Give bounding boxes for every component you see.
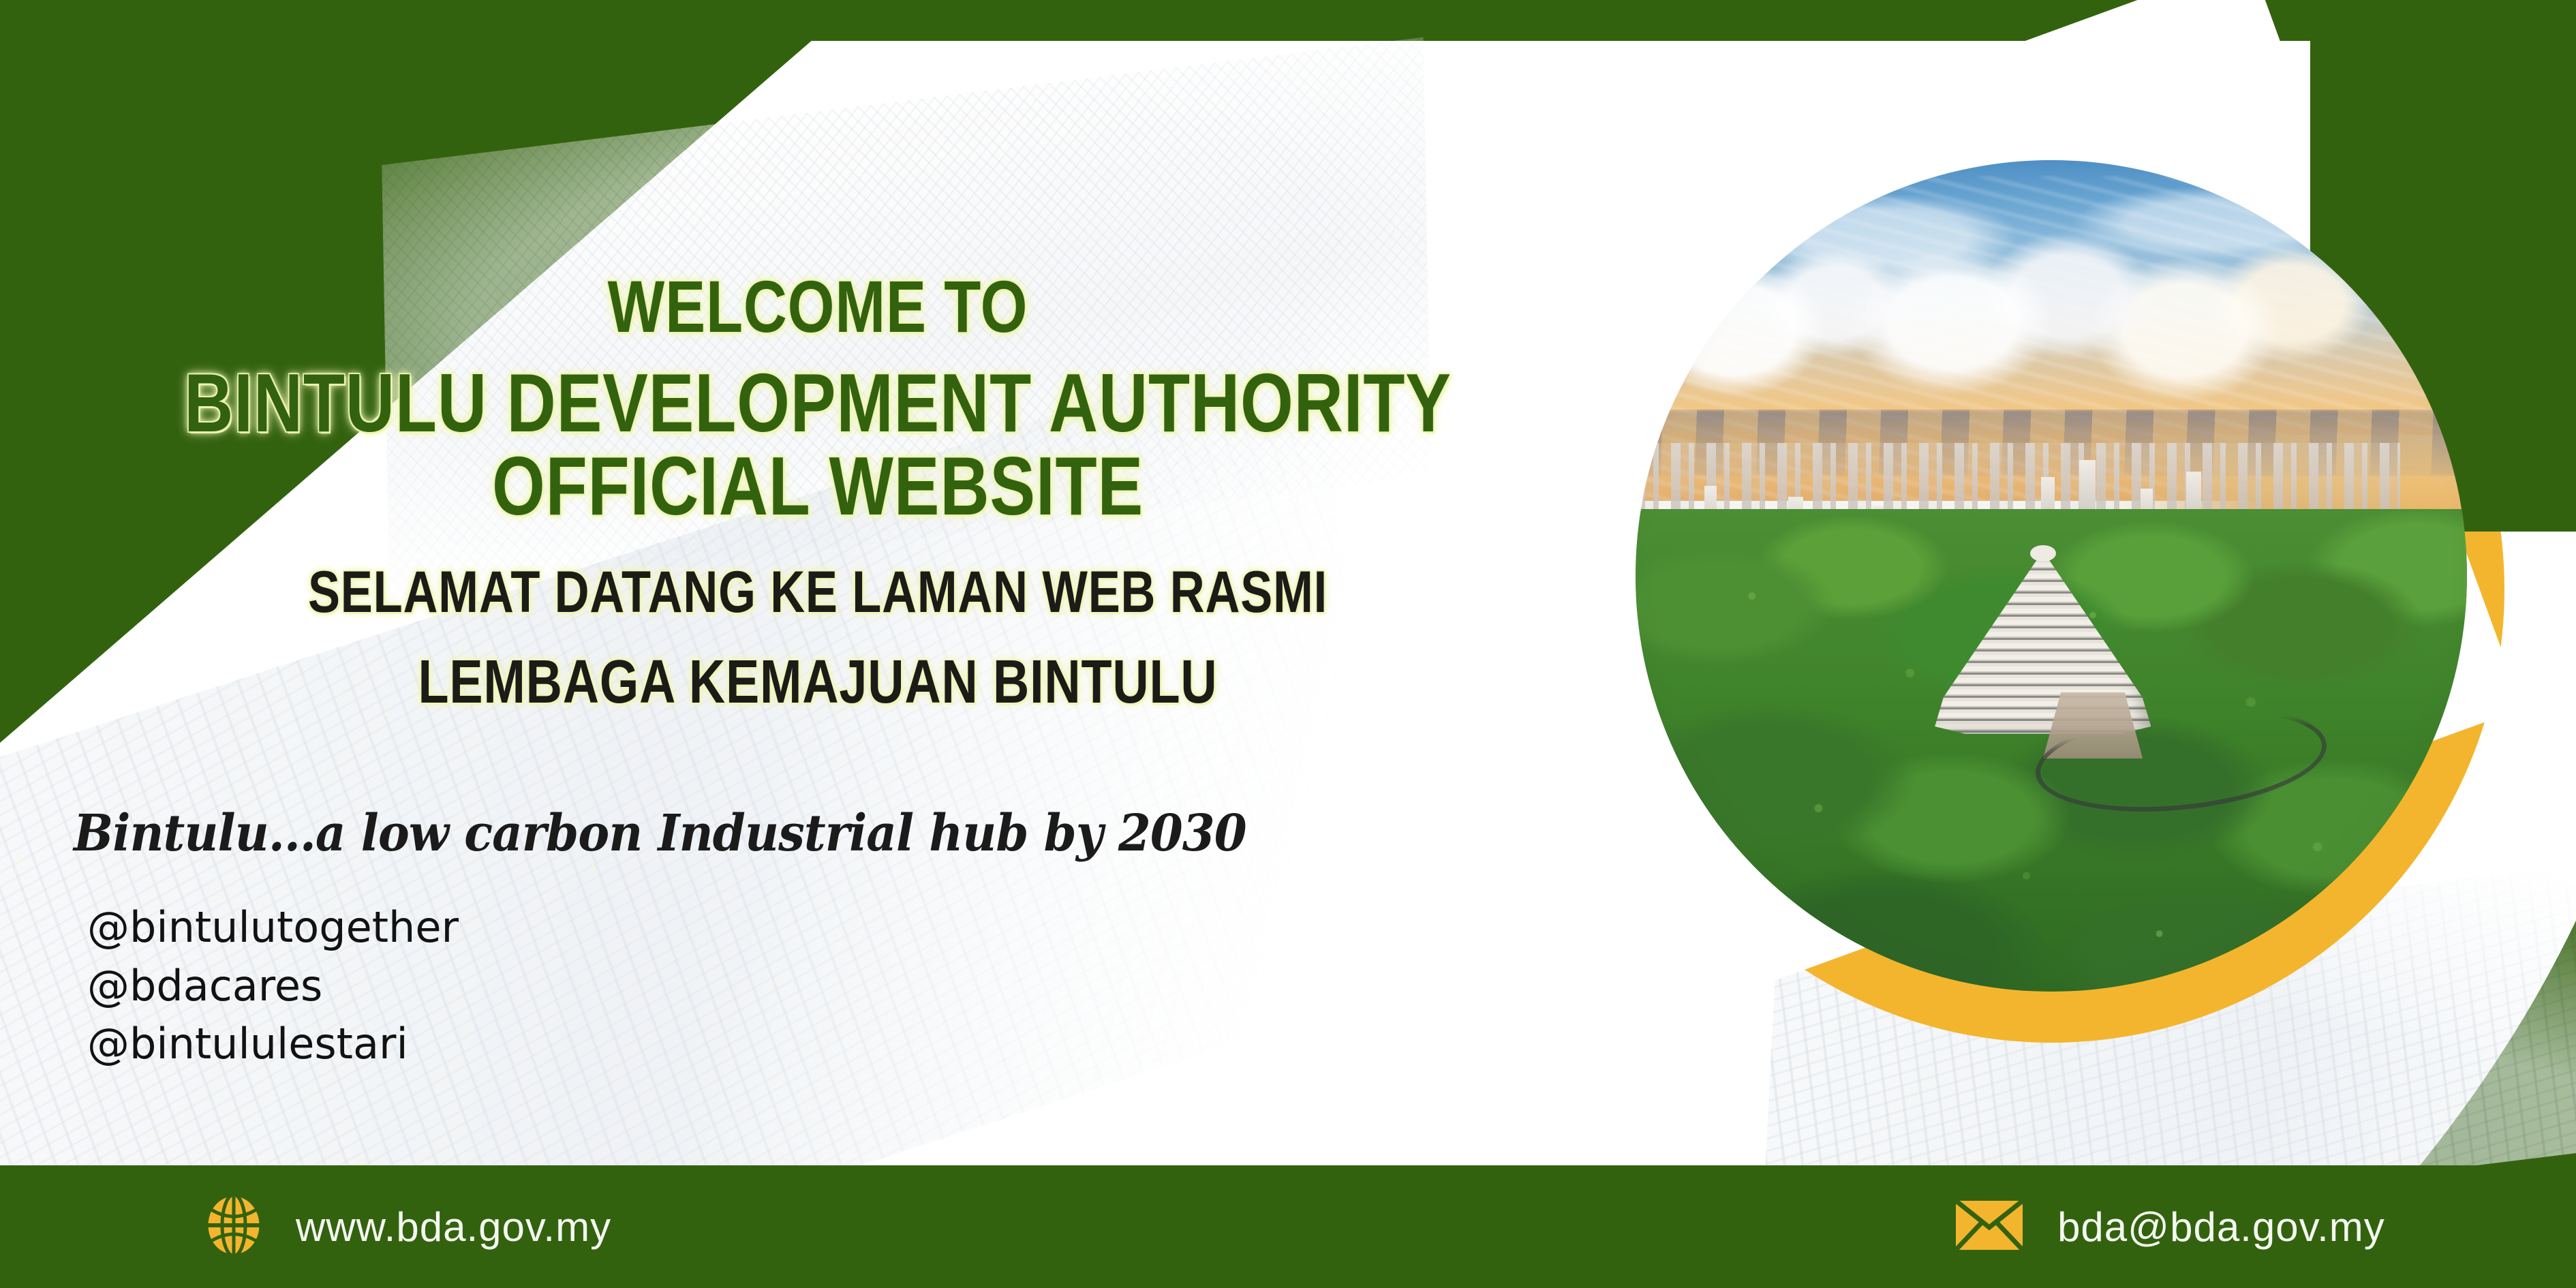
footer-website-label[interactable]: www.bda.gov.my: [296, 1203, 611, 1251]
bintulu-aerial-photo: [1636, 160, 2467, 992]
bda-welcome-banner: WELCOME TO BINTULU DEVELOPMENT AUTHORITY…: [0, 0, 2576, 1288]
subheadline-lembaga-kemajuan: LEMBAGA KEMAJUAN BINTULU: [147, 651, 1488, 713]
headline-official-website: BINTULU DEVELOPMENT AUTHORITY OFFICIAL W…: [147, 361, 1488, 527]
envelope-icon: [1954, 1199, 2025, 1255]
tagline-low-carbon-hub: Bintulu...a low carbon Industrial hub by…: [74, 804, 1214, 863]
contact-footer-bar: www.bda.gov.my bda@bda.gov.my: [0, 1165, 2576, 1288]
footer-website-item[interactable]: www.bda.gov.my: [204, 1193, 611, 1261]
social-handles-list: @bintulutogether @bdacares @bintululesta…: [87, 898, 459, 1073]
social-handle-bdacares[interactable]: @bdacares: [87, 957, 459, 1015]
footer-email-item[interactable]: bda@bda.gov.my: [1954, 1199, 2385, 1255]
footer-email-label[interactable]: bda@bda.gov.my: [2057, 1203, 2385, 1251]
photo-vignette: [1636, 160, 2467, 992]
subheadline-selamat-datang: SELAMAT DATANG KE LAMAN WEB RASMI: [147, 563, 1488, 622]
globe-icon: [204, 1193, 263, 1261]
social-handle-bintululestari[interactable]: @bintululestari: [87, 1015, 459, 1073]
headline-welcome-to: WELCOME TO: [147, 270, 1488, 343]
headline-block: WELCOME TO BINTULU DEVELOPMENT AUTHORITY…: [0, 270, 1636, 713]
social-handle-bintulutogether[interactable]: @bintulutogether: [87, 898, 459, 957]
